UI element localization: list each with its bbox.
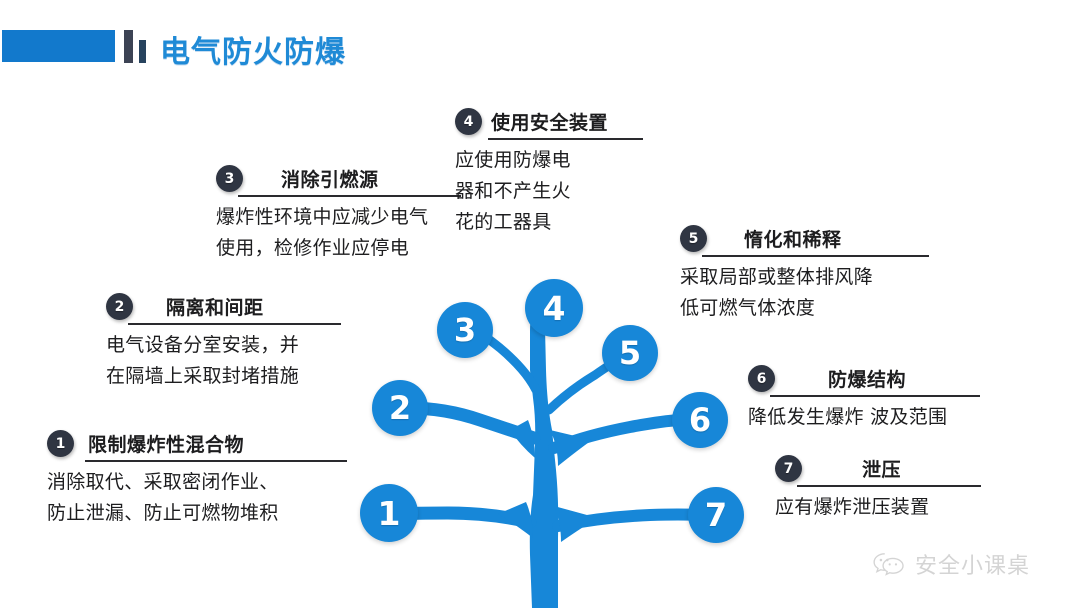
badge-4: 4 bbox=[455, 108, 482, 135]
header-tick-bar-1 bbox=[124, 30, 133, 63]
info-block-7: 7 泄压 应有爆炸泄压装置 bbox=[775, 455, 981, 523]
info-block-6: 6 防爆结构 降低发生爆炸 波及范围 bbox=[748, 365, 980, 433]
info-rule-7 bbox=[797, 485, 981, 487]
info-title-5: 惰化和稀释 bbox=[744, 225, 842, 252]
info-line: 电气设备分室安装，并 bbox=[106, 330, 341, 361]
watermark-text: 安全小课桌 bbox=[915, 548, 1030, 580]
info-line: 防止泄漏、防止可燃物堆积 bbox=[47, 498, 347, 529]
info-rule-4 bbox=[488, 138, 643, 140]
info-title-6: 防爆结构 bbox=[828, 365, 906, 392]
badge-1: 1 bbox=[47, 430, 74, 457]
tree-node-7[interactable]: 7 bbox=[688, 487, 744, 543]
info-line: 低可燃气体浓度 bbox=[680, 293, 929, 324]
info-rule-6 bbox=[770, 395, 980, 397]
info-block-4: 4 使用安全装置 应使用防爆电 器和不产生火 花的工器具 bbox=[455, 108, 643, 237]
info-line: 在隔墙上采取封堵措施 bbox=[106, 361, 341, 392]
info-head-7: 7 泄压 bbox=[775, 455, 981, 482]
info-title-7: 泄压 bbox=[862, 455, 901, 482]
tree-node-1[interactable]: 1 bbox=[360, 484, 418, 542]
tree-trunk bbox=[530, 314, 558, 608]
badge-6: 6 bbox=[748, 365, 775, 392]
info-line: 器和不产生火 bbox=[455, 176, 643, 207]
slide-canvas: 电气防火防爆 1234567 bbox=[0, 0, 1080, 608]
info-line: 使用，检修作业应停电 bbox=[216, 233, 461, 264]
header-accent-bar bbox=[2, 30, 115, 62]
info-body-4: 应使用防爆电 器和不产生火 花的工器具 bbox=[455, 145, 643, 237]
info-body-3: 爆炸性环境中应减少电气 使用，检修作业应停电 bbox=[216, 202, 461, 264]
page-title: 电气防火防爆 bbox=[160, 27, 346, 71]
info-title-1: 限制爆炸性混合物 bbox=[88, 430, 244, 457]
info-line: 花的工器具 bbox=[455, 207, 643, 238]
tree-node-2[interactable]: 2 bbox=[372, 380, 428, 436]
info-line: 采取局部或整体排风降 bbox=[680, 262, 929, 293]
info-head-5: 5 惰化和稀释 bbox=[680, 225, 929, 252]
tree-node-5[interactable]: 5 bbox=[602, 325, 658, 381]
badge-2: 2 bbox=[106, 293, 133, 320]
header-tick-bar-2 bbox=[139, 40, 146, 63]
info-line: 应使用防爆电 bbox=[455, 145, 643, 176]
tree-node-4[interactable]: 4 bbox=[525, 279, 583, 337]
wechat-icon bbox=[872, 551, 906, 577]
info-line: 降低发生爆炸 波及范围 bbox=[748, 402, 980, 433]
tree-node-6[interactable]: 6 bbox=[672, 392, 728, 448]
info-body-2: 电气设备分室安装，并 在隔墙上采取封堵措施 bbox=[106, 330, 341, 392]
info-title-4: 使用安全装置 bbox=[491, 108, 608, 135]
slide-header: 电气防火防爆 bbox=[0, 0, 1080, 92]
info-block-1: 1 限制爆炸性混合物 消除取代、采取密闭作业、 防止泄漏、防止可燃物堆积 bbox=[47, 430, 347, 529]
info-line: 应有爆炸泄压装置 bbox=[775, 492, 981, 523]
info-body-1: 消除取代、采取密闭作业、 防止泄漏、防止可燃物堆积 bbox=[47, 467, 347, 529]
info-title-3: 消除引燃源 bbox=[281, 165, 379, 192]
info-line: 爆炸性环境中应减少电气 bbox=[216, 202, 461, 233]
info-block-2: 2 隔离和间距 电气设备分室安装，并 在隔墙上采取封堵措施 bbox=[106, 293, 341, 392]
info-rule-1 bbox=[85, 460, 347, 462]
info-head-2: 2 隔离和间距 bbox=[106, 293, 341, 320]
badge-5: 5 bbox=[680, 225, 707, 252]
info-head-4: 4 使用安全装置 bbox=[455, 108, 643, 135]
info-head-1: 1 限制爆炸性混合物 bbox=[47, 430, 347, 457]
badge-3: 3 bbox=[216, 165, 243, 192]
info-block-5: 5 惰化和稀释 采取局部或整体排风降 低可燃气体浓度 bbox=[680, 225, 929, 324]
badge-7: 7 bbox=[775, 455, 802, 482]
info-head-6: 6 防爆结构 bbox=[748, 365, 980, 392]
info-body-7: 应有爆炸泄压装置 bbox=[775, 492, 981, 523]
info-body-6: 降低发生爆炸 波及范围 bbox=[748, 402, 980, 433]
info-rule-2 bbox=[128, 323, 341, 325]
info-title-2: 隔离和间距 bbox=[166, 293, 264, 320]
info-body-5: 采取局部或整体排风降 低可燃气体浓度 bbox=[680, 262, 929, 324]
watermark: 安全小课桌 bbox=[872, 548, 1030, 580]
tree-node-3[interactable]: 3 bbox=[437, 302, 493, 358]
info-rule-3 bbox=[238, 195, 461, 197]
info-rule-5 bbox=[702, 255, 929, 257]
info-block-3: 3 消除引燃源 爆炸性环境中应减少电气 使用，检修作业应停电 bbox=[216, 165, 461, 264]
info-line: 消除取代、采取密闭作业、 bbox=[47, 467, 347, 498]
info-head-3: 3 消除引燃源 bbox=[216, 165, 461, 192]
